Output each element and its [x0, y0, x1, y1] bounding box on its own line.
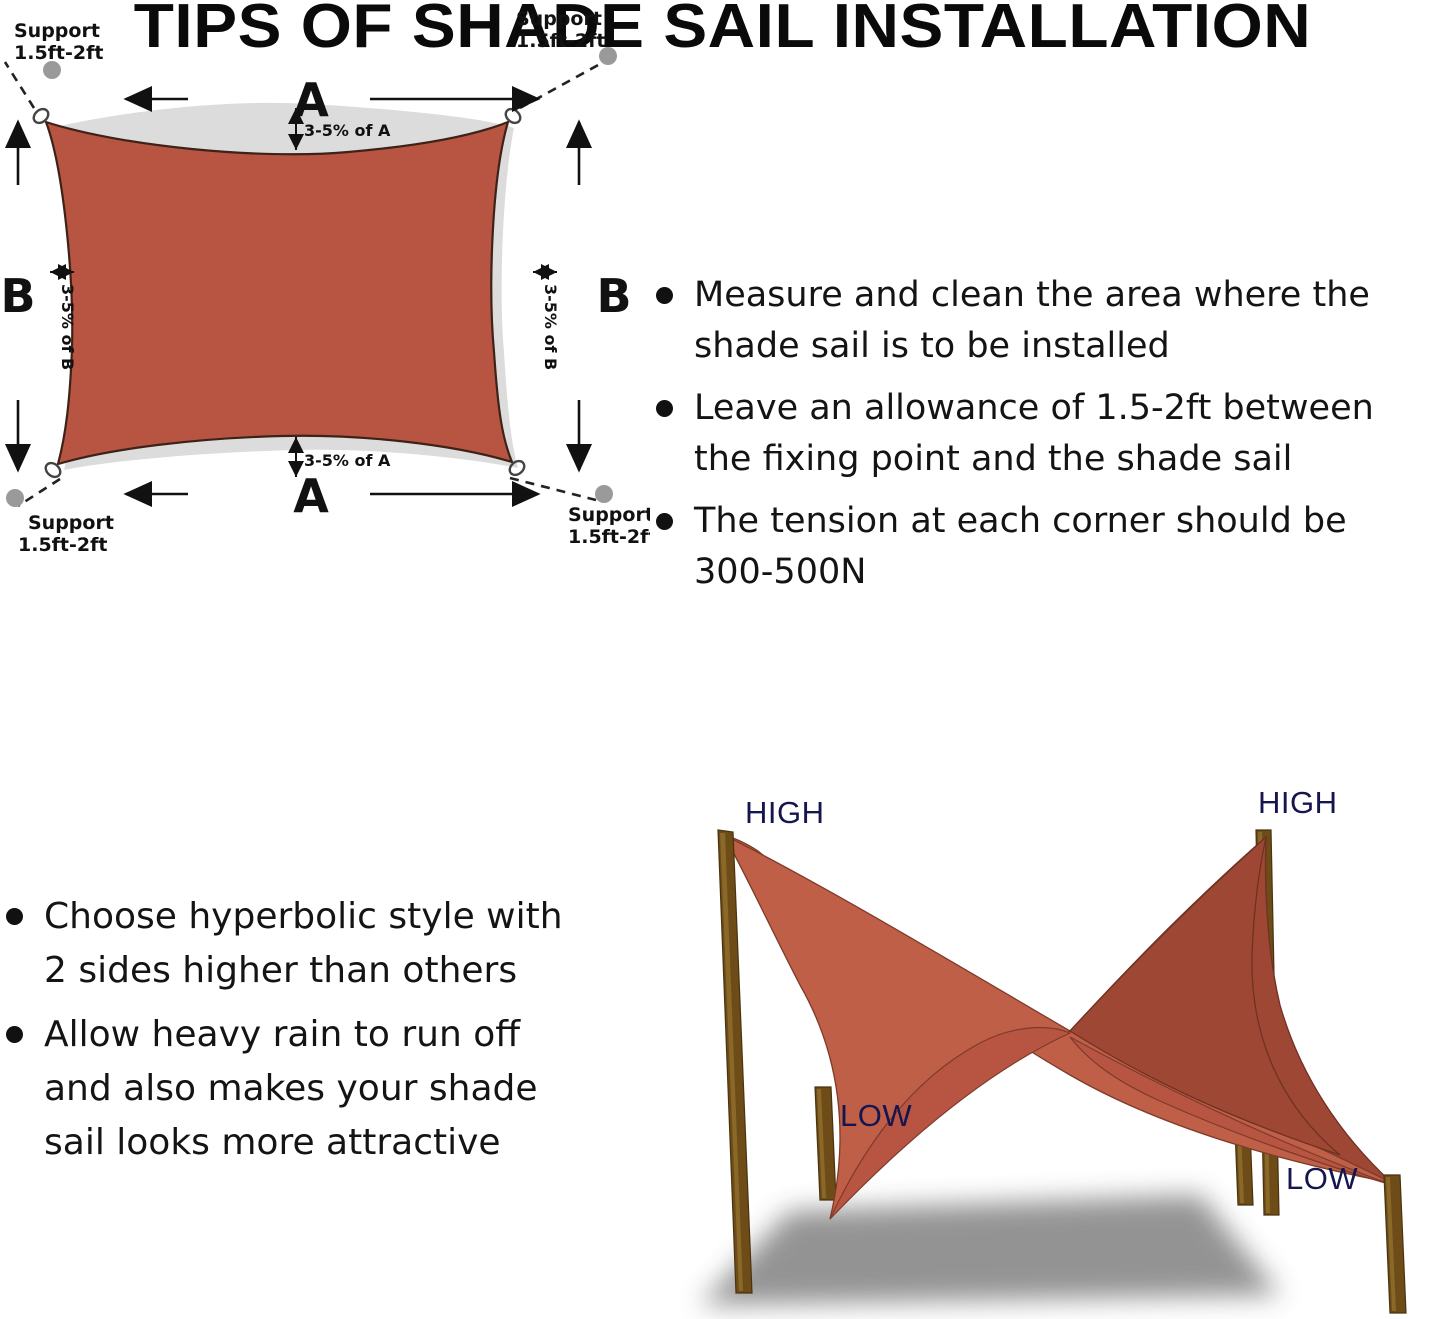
post-low-right — [1384, 1175, 1406, 1313]
tip-line: shade sail is to be installed — [694, 321, 1445, 372]
list-item: Leave an allowance of 1.5-2ft between th… — [650, 383, 1445, 485]
dimension-label-b-left: B — [0, 269, 35, 323]
bullet-icon — [656, 400, 673, 417]
tip-line: the fixing point and the shade sail — [694, 434, 1445, 485]
list-item: Measure and clean the area where the sha… — [650, 270, 1445, 372]
support-label-top-right-line2: 1.5ft-2ft — [516, 30, 605, 52]
tip-line: Allow heavy rain to run off — [44, 1008, 630, 1062]
sail-lobe-left-light — [724, 835, 1070, 1219]
shade-sail-shape — [46, 122, 512, 464]
bullet-icon — [656, 287, 673, 304]
post-low-left — [815, 1087, 836, 1200]
tip-line: The tension at each corner should be — [694, 496, 1445, 547]
support-label-bottom-right-line1: Support — [568, 504, 650, 526]
tip-line: Measure and clean the area where the — [694, 270, 1445, 321]
dimension-label-b-right: B — [596, 269, 631, 323]
tip-line: 300-500N — [694, 547, 1445, 598]
bullet-icon — [656, 513, 673, 530]
support-label-top-left-line1: Support — [14, 20, 100, 42]
installation-tips-list: Measure and clean the area where the sha… — [650, 270, 1445, 609]
dimension-label-a-bottom: A — [293, 469, 329, 523]
list-item: Allow heavy rain to run off and also mak… — [0, 1008, 630, 1170]
tip-line: and also makes your shade — [44, 1062, 630, 1116]
hyperbolic-style-tips-list: Choose hyperbolic style with 2 sides hig… — [0, 890, 630, 1180]
support-label-top-left-line2: 1.5ft-2ft — [14, 42, 103, 64]
tip-line: sail looks more attractive — [44, 1116, 630, 1170]
tip-line: Leave an allowance of 1.5-2ft between — [694, 383, 1445, 434]
label-high-right: HIGH — [1258, 785, 1338, 820]
support-label-bottom-right-line2: 1.5ft-2ft — [568, 526, 650, 548]
label-low-left: LOW — [840, 1098, 912, 1133]
bullet-icon — [6, 1026, 23, 1043]
bullet-icon — [6, 908, 23, 925]
rect-sail-diagram: Support 1.5ft-2ft Support 1.5ft-2ft Supp… — [0, 0, 650, 580]
list-item: The tension at each corner should be 300… — [650, 496, 1445, 598]
support-label-bottom-left-line1: Support — [28, 512, 114, 534]
support-label-bottom-left-line2: 1.5ft-2ft — [18, 534, 107, 556]
label-high-left: HIGH — [745, 795, 825, 830]
curvature-label-right: 3-5% of B — [541, 284, 560, 370]
tip-line: 2 sides higher than others — [44, 944, 630, 998]
list-item: Choose hyperbolic style with 2 sides hig… — [0, 890, 630, 998]
post-high-left — [718, 830, 752, 1293]
curvature-label-bottom: 3-5% of A — [304, 451, 391, 470]
ground-shadow — [700, 1195, 1280, 1305]
dimension-label-a-top: A — [293, 73, 329, 127]
tip-line: Choose hyperbolic style with — [44, 890, 630, 944]
hyperbolic-sail-illustration: HIGH HIGH LOW LOW — [640, 775, 1445, 1319]
curvature-label-left: 3-5% of B — [58, 284, 77, 370]
curvature-label-top: 3-5% of A — [304, 121, 391, 140]
support-label-top-right-line1: Support — [516, 8, 602, 30]
label-low-right: LOW — [1286, 1161, 1358, 1196]
